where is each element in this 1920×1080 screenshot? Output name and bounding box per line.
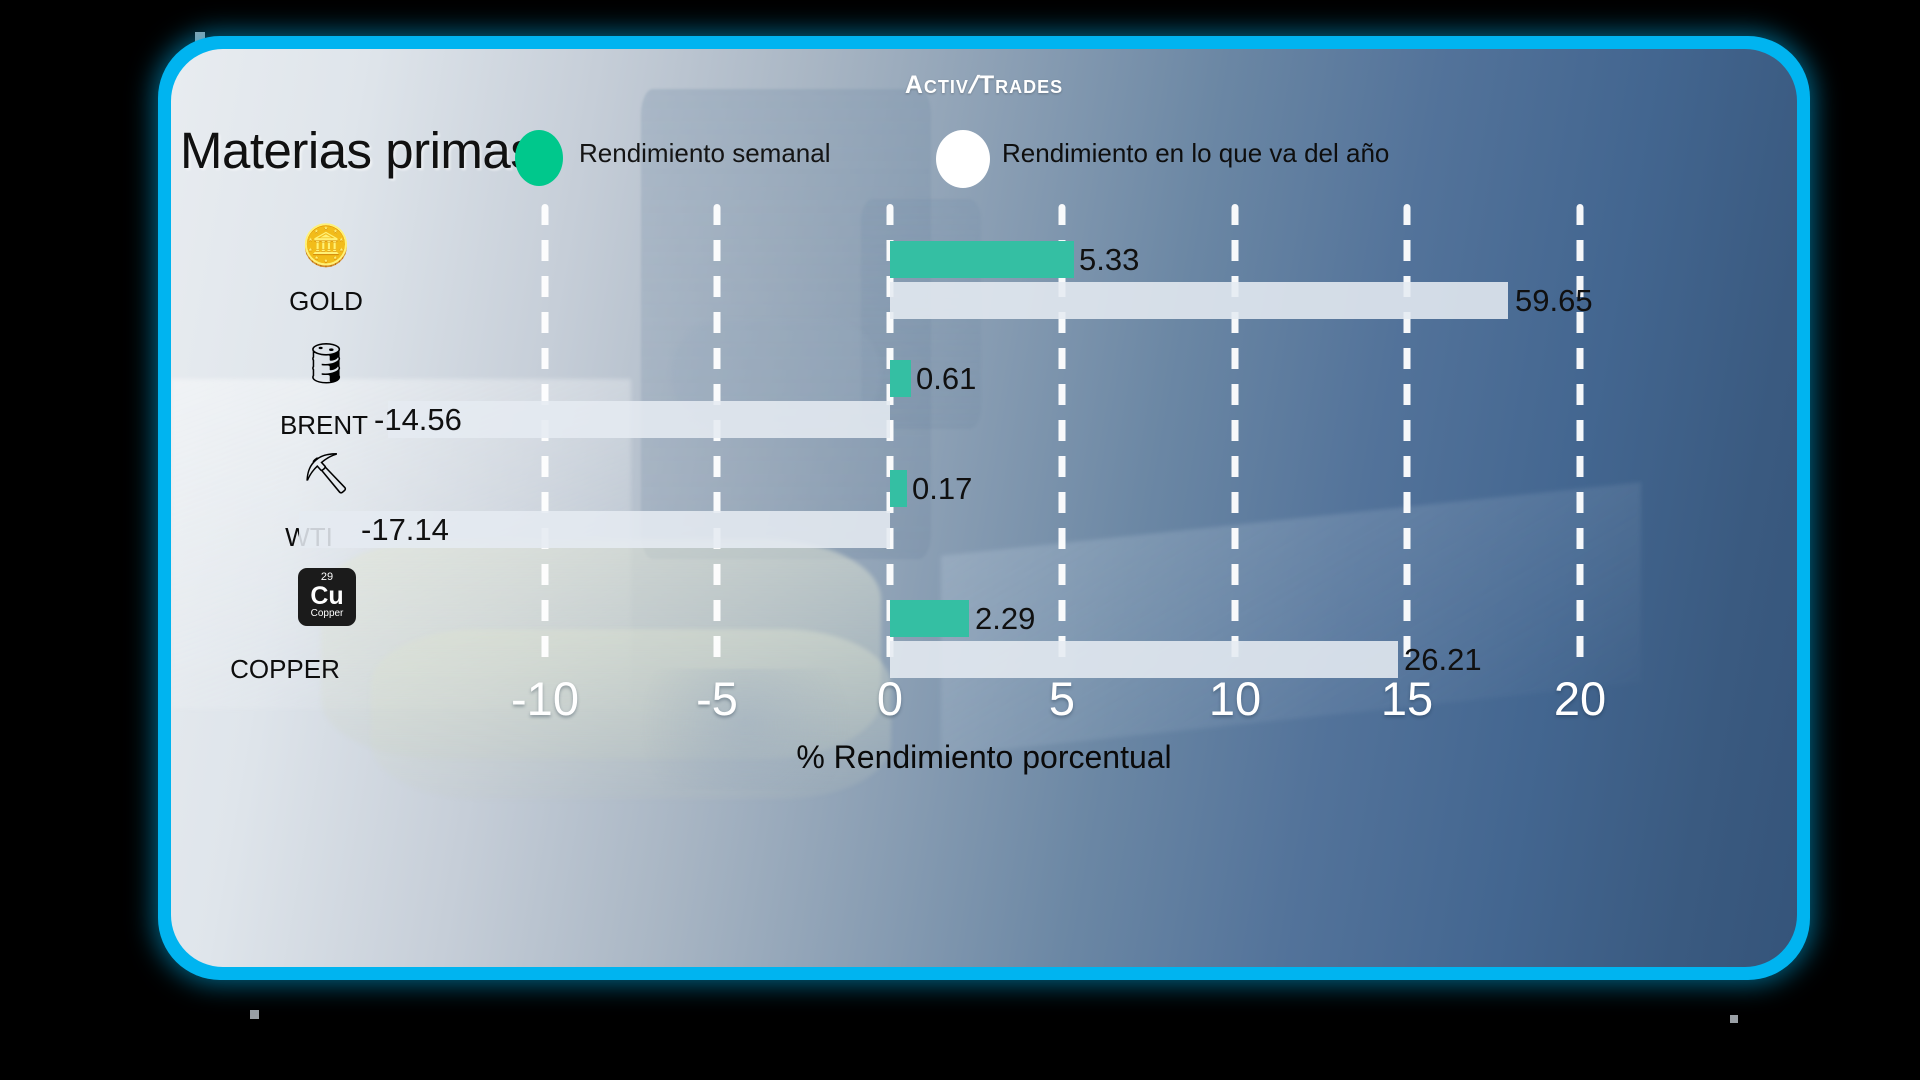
bar-value-brent-ytd: -14.56 xyxy=(374,401,462,438)
x-tick-5: 5 xyxy=(1002,671,1122,726)
chart-row-copper: 29 Cu Copper COPPER 2.29 26.21 xyxy=(171,562,1797,682)
bar-wti-weekly[interactable] xyxy=(890,470,907,507)
logo-text-part1: Activ xyxy=(905,71,969,99)
x-tick-10: 10 xyxy=(1175,671,1295,726)
x-tick-0: 0 xyxy=(830,671,950,726)
oil-pump-icon: ⛏ xyxy=(286,454,366,494)
legend-label-ytd: Rendimiento en lo que va del año xyxy=(1002,138,1389,169)
bar-value-gold-weekly: 5.33 xyxy=(1079,241,1139,278)
legend-label-weekly: Rendimiento semanal xyxy=(579,138,830,169)
bar-copper-weekly[interactable] xyxy=(890,600,969,637)
legend-swatch-weekly xyxy=(515,130,563,186)
x-tick-15: 15 xyxy=(1347,671,1467,726)
bar-value-wti-weekly: 0.17 xyxy=(912,470,972,507)
bar-brent-ytd[interactable] xyxy=(388,401,890,438)
x-tick--10: -10 xyxy=(485,671,605,726)
category-label-gold: GOLD xyxy=(236,286,416,317)
plot-area: 🪙 GOLD 5.33 59.65 🛢 BRENT 0.61 -14.56 ⛏ … xyxy=(171,204,1797,704)
x-axis: -10 -5 0 5 10 15 20 xyxy=(171,671,1797,741)
gold-bars-icon: 🪙 xyxy=(286,226,366,266)
chart-row-brent: 🛢 BRENT 0.61 -14.56 xyxy=(171,332,1797,447)
decorative-noise xyxy=(250,1010,259,1019)
bar-value-wti-ytd: -17.14 xyxy=(361,511,449,548)
logo-text-part2: Trades xyxy=(979,71,1063,99)
x-axis-title: % Rendimiento porcentual xyxy=(171,739,1797,776)
bar-value-brent-weekly: 0.61 xyxy=(916,360,976,397)
activtrades-logo: Activ/Trades xyxy=(171,71,1797,100)
bar-value-gold-ytd: 59.65 xyxy=(1515,282,1593,319)
bar-value-copper-weekly: 2.29 xyxy=(975,600,1035,637)
bar-gold-weekly[interactable] xyxy=(890,241,1074,278)
decorative-noise xyxy=(1730,1015,1738,1023)
x-tick--5: -5 xyxy=(657,671,777,726)
chart-header: Materias primas Rendimiento semanal Rend… xyxy=(171,121,1797,191)
chart-row-gold: 🪙 GOLD 5.33 59.65 xyxy=(171,204,1797,319)
copper-element-icon: 29 Cu Copper xyxy=(283,568,371,626)
screenshot-root: Activ/Trades Materias primas Rendimiento… xyxy=(0,0,1920,1080)
oil-barrels-icon: 🛢 xyxy=(286,344,366,384)
bar-brent-weekly[interactable] xyxy=(890,360,911,397)
x-tick-20: 20 xyxy=(1520,671,1640,726)
chart-row-wti: ⛏ WTI 0.17 -17.14 xyxy=(171,442,1797,557)
legend-swatch-ytd xyxy=(936,130,990,188)
bar-gold-ytd[interactable] xyxy=(890,282,1508,319)
infographic-panel: Activ/Trades Materias primas Rendimiento… xyxy=(171,49,1797,967)
page-title: Materias primas xyxy=(180,121,535,180)
